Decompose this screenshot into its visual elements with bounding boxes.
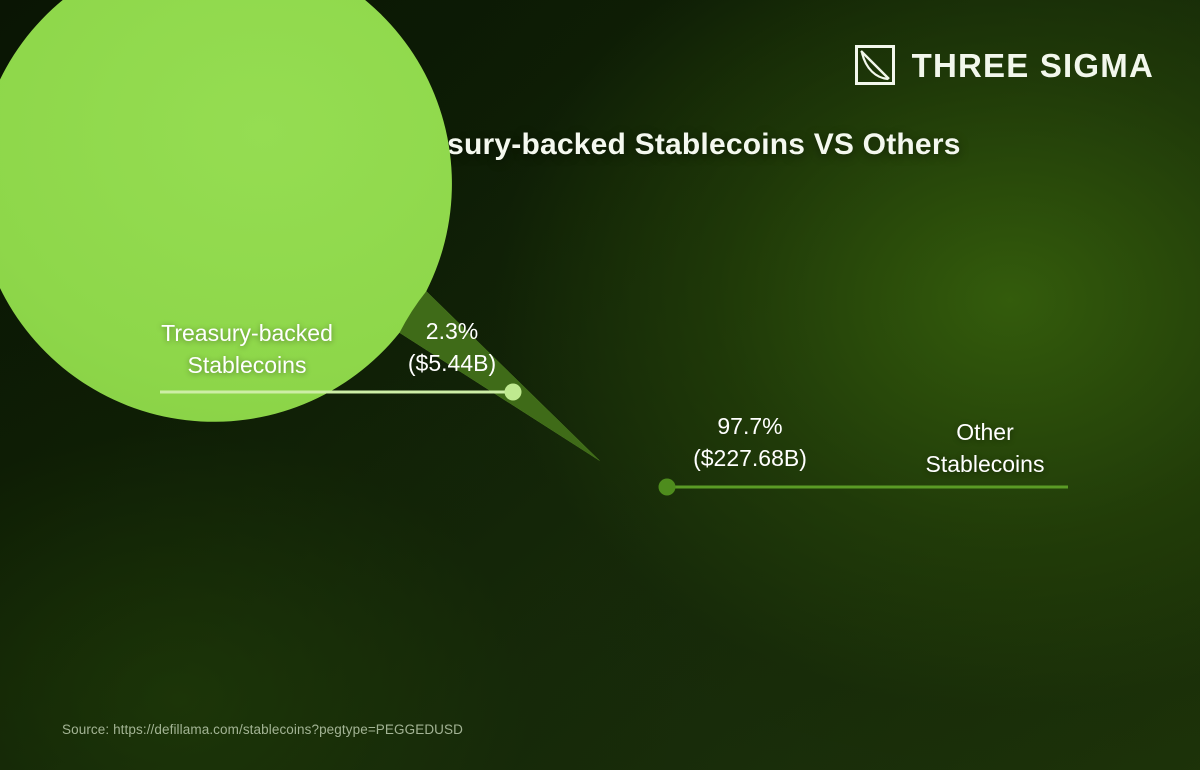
chart-canvas: THREE SIGMA Market Share of Treasury-bac… bbox=[0, 0, 1200, 770]
value-label-treasury-backed: 2.3% ($5.44B) bbox=[388, 316, 516, 379]
leader-dot-right bbox=[659, 479, 676, 496]
value-percent-treasury-backed: 2.3% bbox=[388, 316, 516, 348]
category-label-right-line2: Stablecoins bbox=[926, 451, 1045, 477]
value-percent-other-stablecoins: 97.7% bbox=[676, 411, 824, 443]
category-label-other-stablecoins: Other Stablecoins bbox=[918, 417, 1052, 480]
pie-chart bbox=[0, 0, 1200, 770]
value-amount-other-stablecoins: ($227.68B) bbox=[676, 443, 824, 475]
category-label-left-line2: Stablecoins bbox=[188, 352, 307, 378]
category-label-treasury-backed: Treasury-backed Stablecoins bbox=[152, 318, 342, 381]
category-label-right-line1: Other bbox=[956, 419, 1014, 445]
source-caption: Source: https://defillama.com/stablecoin… bbox=[62, 722, 463, 737]
value-amount-treasury-backed: ($5.44B) bbox=[388, 348, 516, 380]
leader-dot-left bbox=[505, 384, 522, 401]
value-label-other-stablecoins: 97.7% ($227.68B) bbox=[676, 411, 824, 474]
category-label-left-line1: Treasury-backed bbox=[161, 320, 333, 346]
